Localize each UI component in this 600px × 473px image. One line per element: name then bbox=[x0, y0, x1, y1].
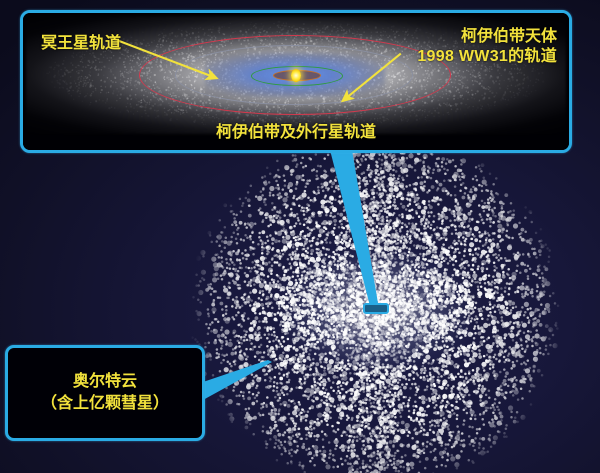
oort-cloud-label-box[interactable]: 奥尔特云 （含上亿颗彗星） bbox=[5, 345, 205, 441]
label-kbo-line1: 柯伊伯带天体 bbox=[417, 27, 557, 47]
oort-cloud-sphere bbox=[188, 122, 564, 473]
diagram-canvas: 冥王星轨道 柯伊伯带天体 1998 WW31的轨道 柯伊伯带及外行星轨道 奥尔特… bbox=[0, 0, 600, 473]
label-pluto-orbit: 冥王星轨道 bbox=[41, 34, 121, 54]
kuiper-belt-inset[interactable]: 冥王星轨道 柯伊伯带天体 1998 WW31的轨道 柯伊伯带及外行星轨道 bbox=[20, 10, 572, 153]
oort-cloud-comet-dots bbox=[188, 122, 564, 473]
label-kbo-1998-ww31: 柯伊伯带天体 1998 WW31的轨道 bbox=[417, 27, 557, 66]
inset-interior: 冥王星轨道 柯伊伯带天体 1998 WW31的轨道 柯伊伯带及外行星轨道 bbox=[23, 13, 569, 150]
oort-cloud-label-text: 奥尔特云 （含上亿颗彗星） bbox=[8, 348, 202, 438]
sun-icon bbox=[291, 69, 301, 82]
label-kuiper-belt-outer-planets: 柯伊伯带及外行星轨道 bbox=[23, 123, 569, 143]
label-kbo-line2: 1998 WW31的轨道 bbox=[417, 47, 557, 67]
oort-label-line1: 奥尔特云 bbox=[73, 371, 137, 393]
oort-label-line2: （含上亿颗彗星） bbox=[41, 393, 169, 415]
